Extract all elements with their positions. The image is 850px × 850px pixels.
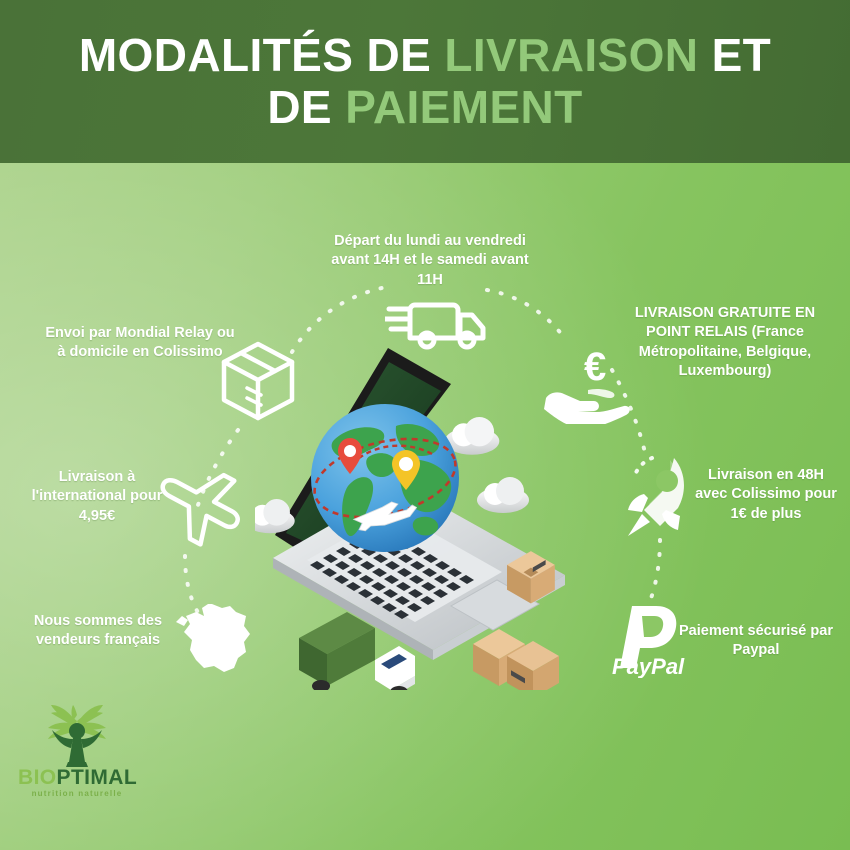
logo-tagline: nutrition naturelle — [18, 789, 136, 798]
label-shipping-method: Envoi par Mondial Relay ou à domicile en… — [45, 324, 235, 363]
paypal-wordmark: PayPal — [612, 654, 685, 678]
label-free-relay: LIVRAISON GRATUITE EN POINT RELAIS (Fran… — [612, 304, 838, 381]
header-band: MODALITÉS DE LIVRAISON ET DE PAIEMENT — [0, 0, 850, 163]
label-secure-payment: Paiement sécurisé par Paypal — [672, 622, 840, 661]
label-departure: Départ du lundi au vendredi avant 14H et… — [325, 232, 535, 290]
bioptimal-logo[interactable]: BIOPTIMAL nutrition naturelle — [18, 705, 136, 810]
svg-text:€: € — [584, 345, 606, 389]
logo-tree-icon — [18, 705, 136, 767]
hand-euro-icon: € — [540, 340, 632, 424]
label-international: Livraison à l'international pour 4,95€ — [22, 468, 172, 526]
rocket-icon — [622, 452, 702, 542]
paypal-icon: PayPal — [612, 602, 696, 678]
france-map-icon — [172, 596, 260, 684]
logo-wordmark: BIOPTIMAL — [18, 767, 136, 788]
title-segment-1: MODALITÉS DE — [79, 29, 445, 81]
delivery-truck-icon — [385, 293, 489, 357]
label-express-48h: Livraison en 48H avec Colissimo pour 1€ … — [690, 466, 842, 524]
logo-word-bio: BIO — [18, 766, 57, 789]
label-french-sellers: Nous sommes des vendeurs français — [18, 612, 178, 651]
page-title: MODALITÉS DE LIVRAISON ET DE PAIEMENT — [0, 30, 850, 133]
package-box-icon — [216, 338, 300, 424]
airplane-icon — [152, 462, 258, 550]
title-segment-paiement: PAIEMENT — [345, 81, 582, 133]
infographic-canvas: MODALITÉS DE LIVRAISON ET DE PAIEMENT — [0, 0, 850, 850]
title-segment-livraison: LIVRAISON — [444, 29, 698, 81]
logo-word-ptimal: PTIMAL — [57, 766, 138, 789]
